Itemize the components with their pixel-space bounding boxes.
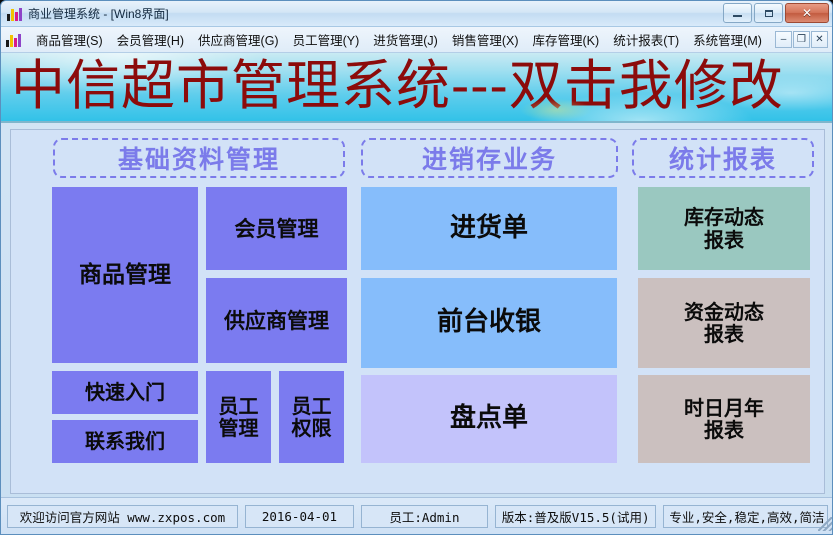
bar-chart-icon [7, 7, 23, 21]
close-button[interactable]: ✕ [785, 3, 829, 23]
tile-label: 库存动态 报表 [684, 206, 764, 251]
menu-item-supplier[interactable]: 供应商管理(G) [191, 27, 286, 52]
tile-label: 员工 管理 [219, 395, 259, 440]
menu-item-member[interactable]: 会员管理(H) [110, 27, 191, 52]
mdi-minimize-button[interactable]: – [775, 31, 792, 48]
menu-item-reports[interactable]: 统计报表(T) [606, 27, 686, 52]
menu-item-system[interactable]: 系统管理(M) [686, 27, 769, 52]
minimize-button[interactable] [723, 3, 752, 23]
maximize-icon [765, 10, 773, 17]
status-official-website: 欢迎访问官方网站 www.zxpos.com [7, 505, 238, 528]
tile-goods-management[interactable]: 商品管理 [52, 187, 198, 363]
status-current-date: 2016-04-01 [245, 505, 354, 528]
tile-funds-dynamics-report[interactable]: 资金动态 报表 [638, 278, 810, 368]
tile-supplier-management[interactable]: 供应商管理 [206, 278, 347, 363]
bar-chart-icon [6, 33, 22, 47]
menu-item-stock[interactable]: 库存管理(K) [526, 27, 607, 52]
mdi-restore-button[interactable]: ❐ [793, 31, 810, 48]
tile-label: 供应商管理 [224, 309, 329, 333]
title-bar: 商业管理系统 - [Win8界面] ✕ [1, 1, 832, 27]
status-slogan: 专业,安全,稳定,高效,简洁,易 [663, 505, 828, 528]
banner-title: 中信超市管理系统---双击我修改 [11, 53, 784, 121]
menu-item-purchase[interactable]: 进货管理(J) [366, 27, 445, 52]
mdi-child-controls: – ❐ ✕ [775, 31, 828, 48]
mdi-close-button[interactable]: ✕ [811, 31, 828, 48]
menu-item-goods[interactable]: 商品管理(S) [29, 27, 110, 52]
group-header-inventory-business: 进销存业务 [361, 138, 618, 178]
menu-item-sales[interactable]: 销售管理(X) [445, 27, 526, 52]
minimize-icon [733, 15, 742, 17]
maximize-button[interactable] [754, 3, 783, 23]
tile-time-day-month-year-report[interactable]: 时日月年 报表 [638, 375, 810, 463]
tile-front-desk-cashier[interactable]: 前台收银 [361, 278, 617, 368]
tile-stocktaking-order[interactable]: 盘点单 [361, 375, 617, 463]
tile-staff-permissions[interactable]: 员工 权限 [279, 371, 344, 463]
tile-contact-us[interactable]: 联系我们 [52, 420, 198, 463]
group-title-statistics-reports: 统计报表 [669, 140, 777, 176]
main-content-panel: 基础资料管理 进销存业务 统计报表 商品管理会员管理供应商管理快速入门联系我们员… [10, 129, 825, 494]
tile-label: 盘点单 [450, 404, 528, 433]
tile-staff-management[interactable]: 员工 管理 [206, 371, 271, 463]
window-controls: ✕ [723, 3, 829, 23]
menu-item-staff[interactable]: 员工管理(Y) [286, 27, 367, 52]
tile-label: 资金动态 报表 [684, 301, 764, 346]
close-icon: ✕ [802, 7, 812, 19]
tile-member-management[interactable]: 会员管理 [206, 187, 347, 270]
status-bar: 欢迎访问官方网站 www.zxpos.com 2016-04-01 员工:Adm… [1, 497, 833, 534]
group-title-inventory-business: 进销存业务 [422, 140, 557, 176]
tile-label: 进货单 [450, 214, 528, 243]
tile-label: 时日月年 报表 [684, 397, 764, 442]
tile-label: 快速入门 [85, 381, 165, 403]
menu-bar: 商品管理(S) 会员管理(H) 供应商管理(G) 员工管理(Y) 进货管理(J)… [1, 27, 832, 53]
tile-stock-dynamics-report[interactable]: 库存动态 报表 [638, 187, 810, 270]
tile-quick-start[interactable]: 快速入门 [52, 371, 198, 414]
tile-label: 员工 权限 [292, 395, 332, 440]
banner[interactable]: 中信超市管理系统---双击我修改 [1, 53, 832, 123]
tile-label: 商品管理 [79, 262, 171, 288]
tile-label: 联系我们 [85, 430, 165, 452]
group-header-basic-data: 基础资料管理 [53, 138, 345, 178]
status-version: 版本:普及版V15.5(试用) [495, 505, 657, 528]
status-current-user: 员工:Admin [361, 505, 488, 528]
application-window: 商业管理系统 - [Win8界面] ✕ 商品管理(S) 会员管理(H) 供应商管… [0, 0, 833, 535]
group-header-statistics-reports: 统计报表 [632, 138, 814, 178]
window-title: 商业管理系统 - [Win8界面] [28, 5, 169, 22]
tile-label: 会员管理 [235, 217, 319, 241]
resize-grip-icon[interactable] [818, 517, 832, 531]
tile-purchase-order[interactable]: 进货单 [361, 187, 617, 270]
tile-label: 前台收银 [437, 308, 541, 337]
group-title-basic-data: 基础资料管理 [118, 140, 280, 176]
